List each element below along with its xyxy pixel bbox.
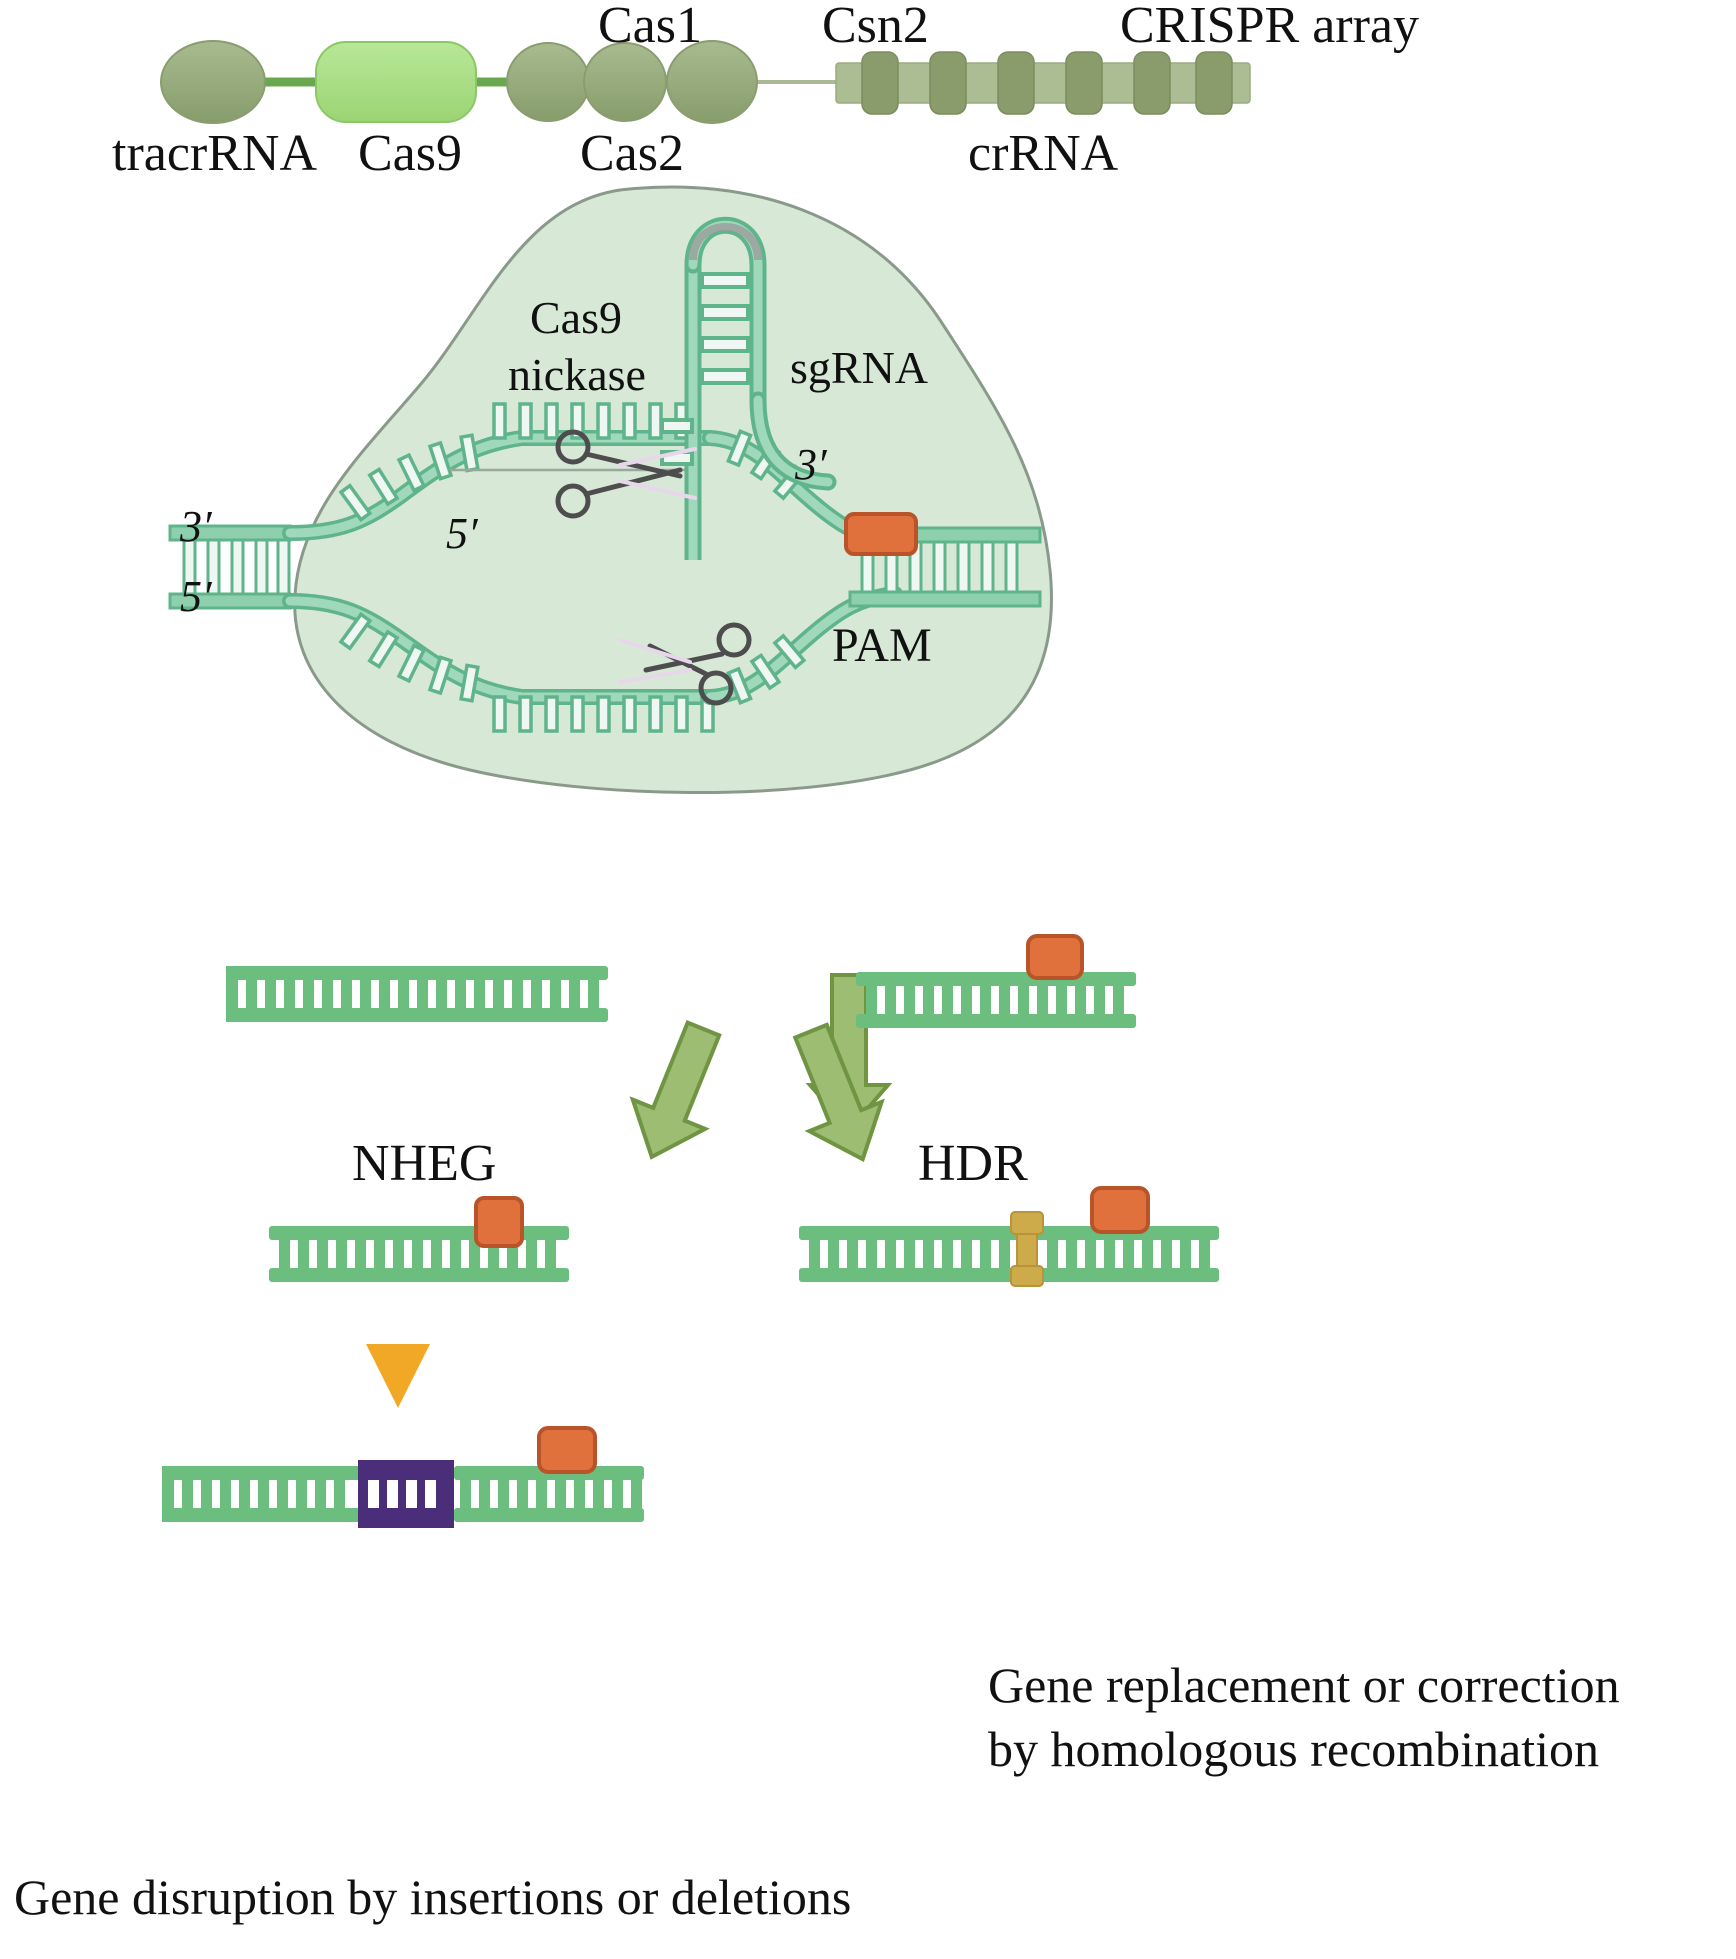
gene-tracrrna	[161, 41, 265, 123]
label-cas1: Cas1	[598, 0, 702, 52]
gene-cas2	[584, 43, 666, 121]
pam-box	[539, 1428, 595, 1472]
label-target-5prime: 5′	[446, 512, 478, 556]
hdr-caption-line2: by homologous recombination	[988, 1724, 1599, 1774]
label-sgrna-3prime: 3′	[795, 443, 827, 487]
pam-box	[476, 1198, 522, 1246]
pam-box	[1028, 936, 1082, 978]
cas9-nickase-complex	[150, 170, 1100, 810]
nheg-arrow	[600, 1025, 760, 1165]
label-dna-5prime: 5′	[180, 575, 212, 619]
nheg-product-dna	[265, 1186, 585, 1292]
label-sgrna: sgRNA	[790, 345, 928, 391]
indel-block	[358, 1460, 454, 1528]
label-cas9-nickase-line1: Cas9	[530, 295, 622, 341]
hdr-caption-line1: Gene replacement or correction	[988, 1660, 1620, 1710]
label-crispr-array: CRISPR array	[1120, 0, 1419, 52]
pam-box	[846, 514, 916, 554]
figure-canvas: Cas1 Csn2 CRISPR array tracrRNA Cas9 Cas…	[0, 0, 1736, 1959]
label-pam: PAM	[832, 622, 932, 670]
blunt-cut-dna-fragment	[222, 960, 622, 1030]
hdr-product-dna	[795, 1178, 1235, 1294]
hdr-insert-marker	[1011, 1212, 1043, 1286]
gene-cas9	[316, 42, 476, 122]
label-dna-3prime: 3′	[180, 505, 212, 549]
pam-box	[1092, 1188, 1148, 1232]
indel-product-dna	[158, 1420, 678, 1536]
label-nheg: NHEG	[352, 1138, 496, 1190]
donor-dna-fragment	[852, 932, 1152, 1038]
hdr-arrow	[760, 1025, 920, 1165]
nheg-caption: Gene disruption by insertions or deletio…	[14, 1872, 851, 1922]
label-cas9-nickase-line2: nickase	[508, 352, 646, 398]
insertion-triangle-icon	[364, 1342, 434, 1414]
label-csn2: Csn2	[822, 0, 929, 52]
gene-cas1	[507, 43, 589, 121]
dna-bottom-strand-right	[850, 592, 1040, 606]
